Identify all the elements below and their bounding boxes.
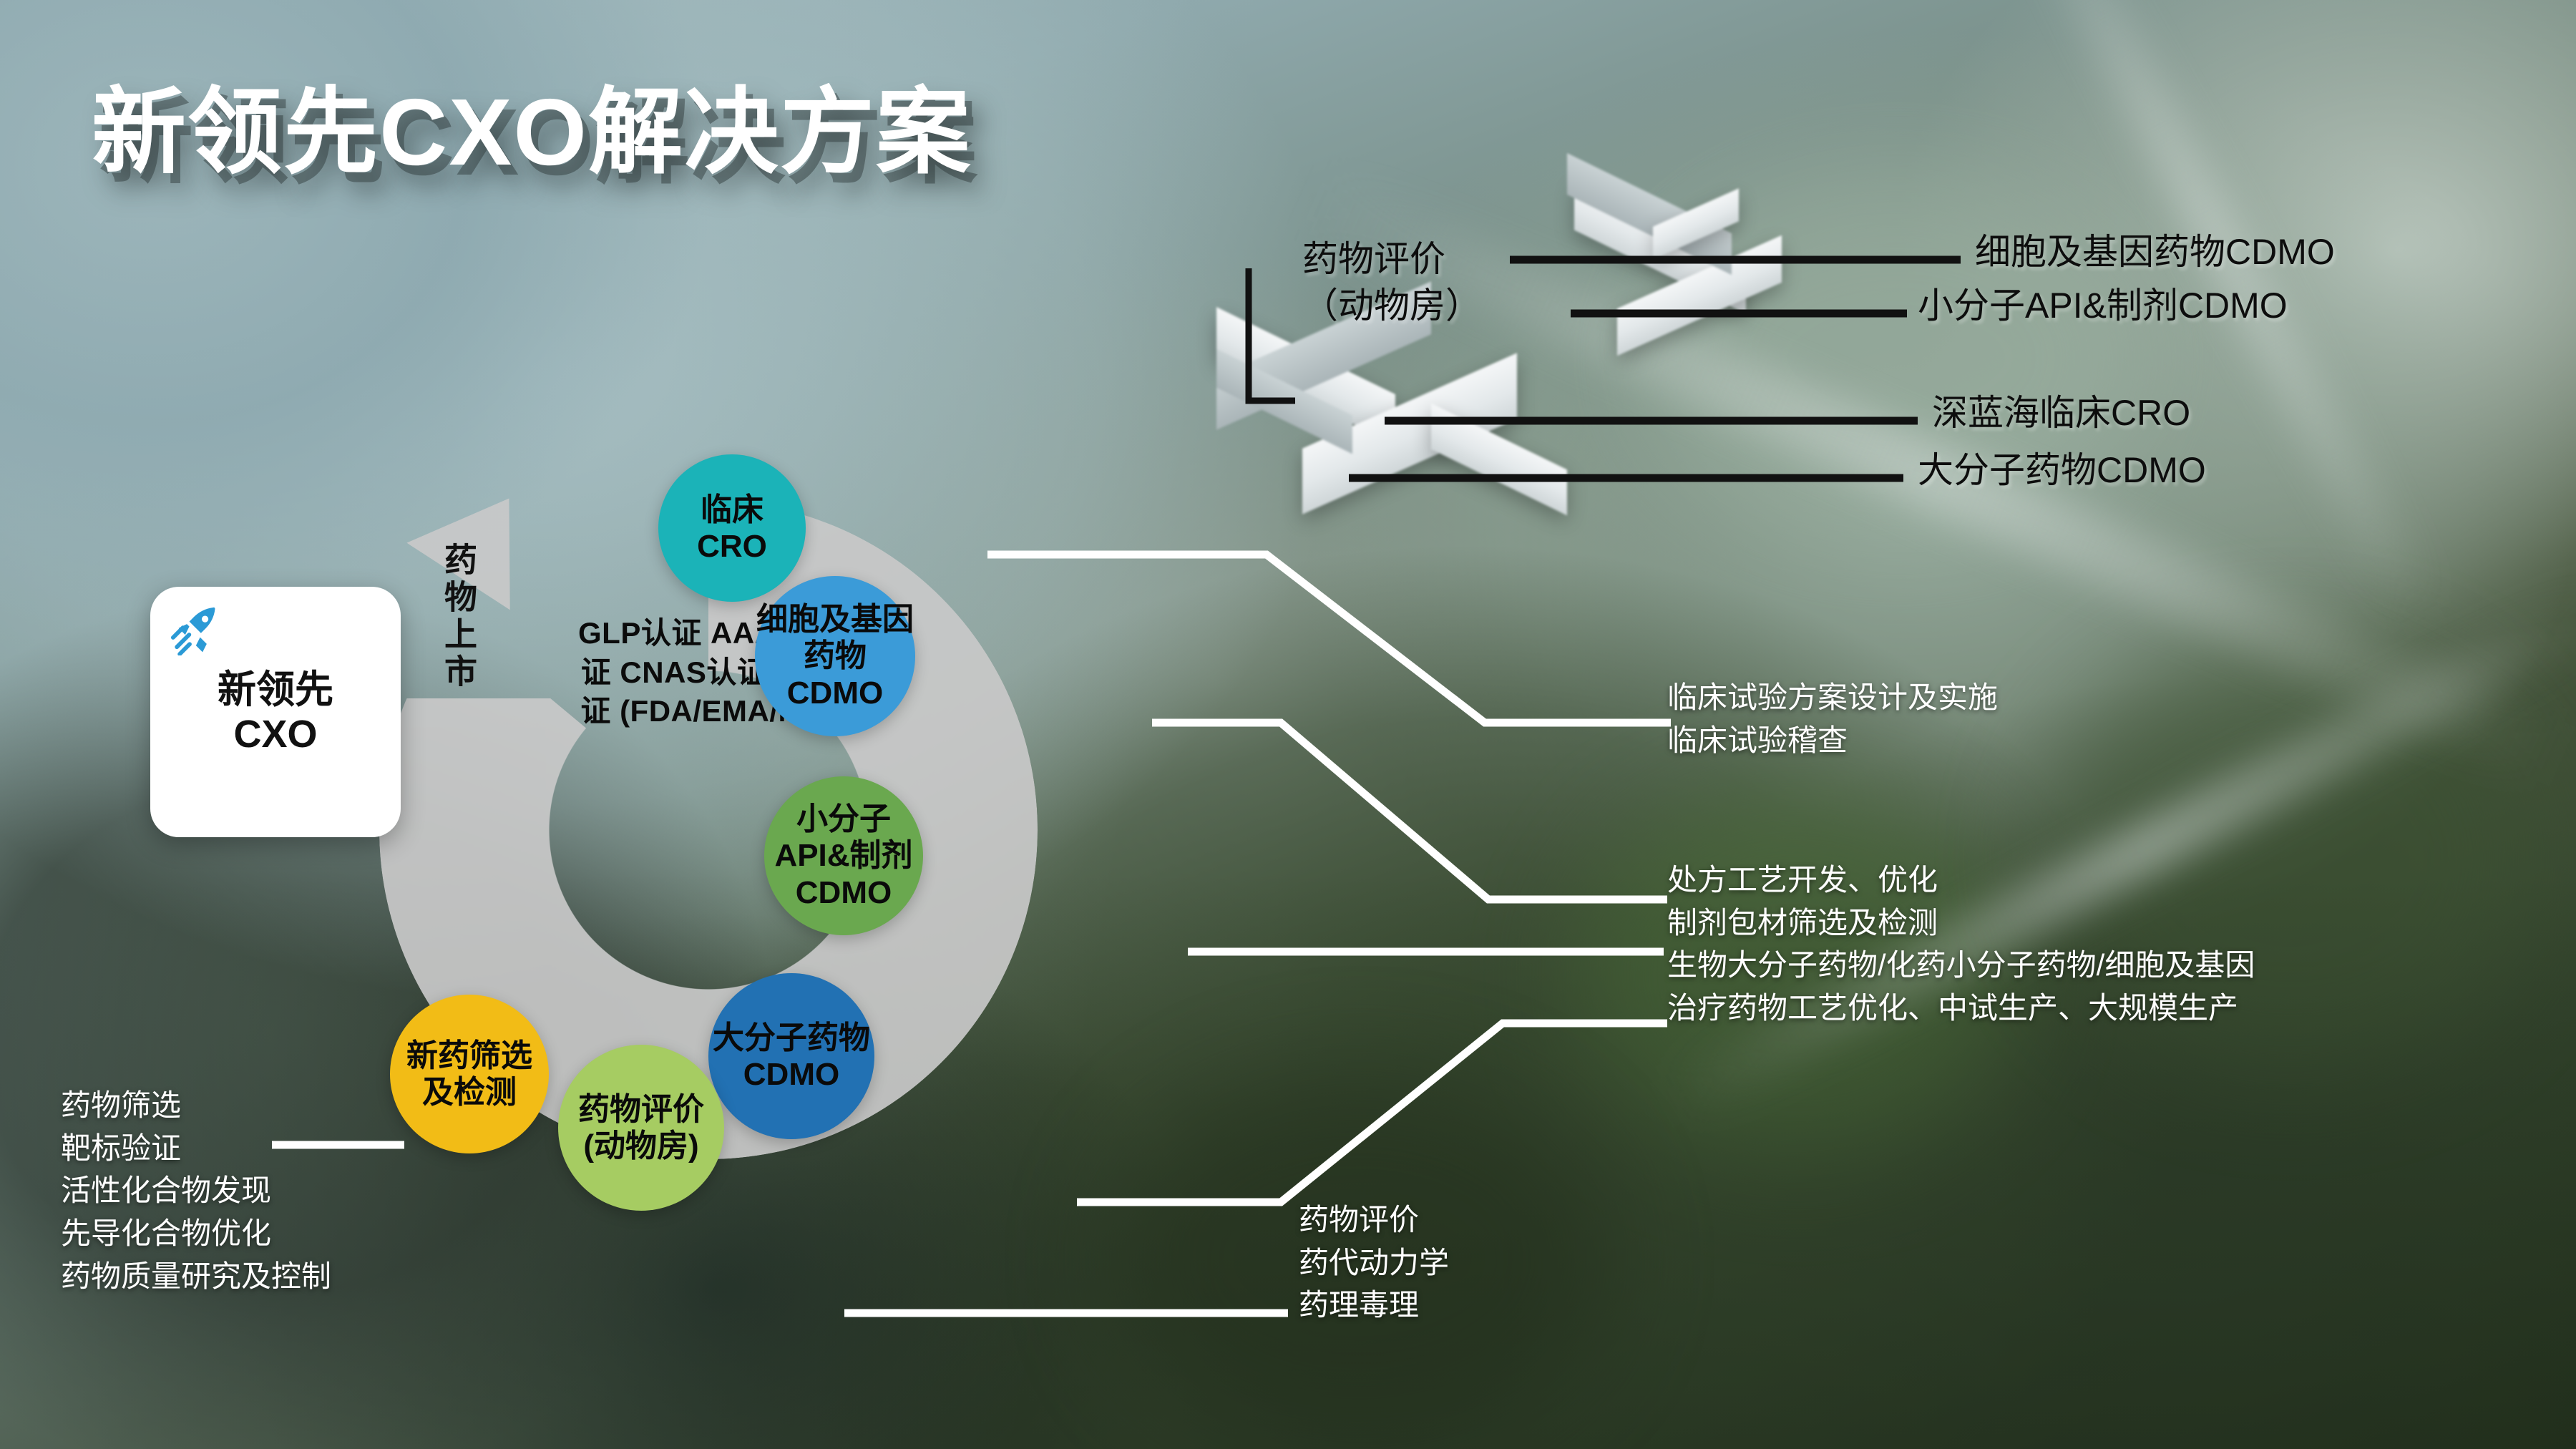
wheel-node-label: 细胞及基因 药物 CDMO <box>756 601 914 711</box>
infographic-canvas: 新领先CXO解决方案 药物评价 （动物房） 细胞及基因药物CDMO 小分子API… <box>0 0 2576 1449</box>
callout-animal-house: 药物评价 （动物房） <box>1302 236 1481 329</box>
wheel-arrow-head <box>406 465 560 610</box>
hub-title-line1: 新领先 <box>218 668 333 712</box>
wheel-node-clinical-cro[interactable]: 临床 CRO <box>658 454 806 602</box>
right-block-evaluation: 药物评价 药代动力学 药理毒理 <box>1299 1199 1449 1327</box>
wheel-arrow-label: 药物上市 <box>442 542 475 691</box>
page-title: 新领先CXO解决方案 <box>92 56 972 192</box>
wheel-node-new-drug-screening[interactable]: 新药筛选 及检测 <box>390 995 549 1153</box>
callout-large-molecule-cdmo: 大分子药物CDMO <box>1918 447 2206 494</box>
wheel-node-label: 临床 CRO <box>697 492 767 565</box>
wheel-node-label: 大分子药物 CDMO <box>713 1020 870 1093</box>
hub-title-line2: CXO <box>233 712 317 756</box>
wheel-node-small-molecule-cdmo[interactable]: 小分子 API&制剂 CDMO <box>764 776 923 935</box>
wheel-node-label: 新药筛选 及检测 <box>406 1038 532 1111</box>
right-block-formulation: 处方工艺开发、优化 制剂包材筛选及检测 生物大分子药物/化药小分子药物/细胞及基… <box>1667 859 2255 1030</box>
wheel-node-drug-evaluation[interactable]: 药物评价 (动物房) <box>558 1045 724 1211</box>
callout-clinical-cro: 深蓝海临床CRO <box>1932 390 2190 436</box>
callout-cell-gene-cdmo: 细胞及基因药物CDMO <box>1975 229 2335 275</box>
callout-small-molecule-cdmo: 小分子API&制剂CDMO <box>1918 283 2288 329</box>
wheel-node-large-molecule-cdmo[interactable]: 大分子药物 CDMO <box>708 973 874 1139</box>
right-block-clinical: 临床试验方案设计及实施 临床试验稽查 <box>1667 676 1998 761</box>
process-wheel: 药物上市 新领先 CXO GLP认证 AAALAC 认证 CNAS认证 GMP认… <box>336 429 1109 1345</box>
wheel-node-label: 药物评价 (动物房) <box>578 1091 704 1164</box>
wheel-node-label: 小分子 API&制剂 CDMO <box>774 801 912 910</box>
hub-card[interactable]: 新领先 CXO <box>150 587 401 837</box>
rocket-icon <box>170 602 223 655</box>
wheel-node-cell-gene-cdmo[interactable]: 细胞及基因 药物 CDMO <box>755 576 915 736</box>
left-capability-list: 药物筛选 靶标验证 活性化合物发现 先导化合物优化 药物质量研究及控制 <box>61 1084 331 1297</box>
